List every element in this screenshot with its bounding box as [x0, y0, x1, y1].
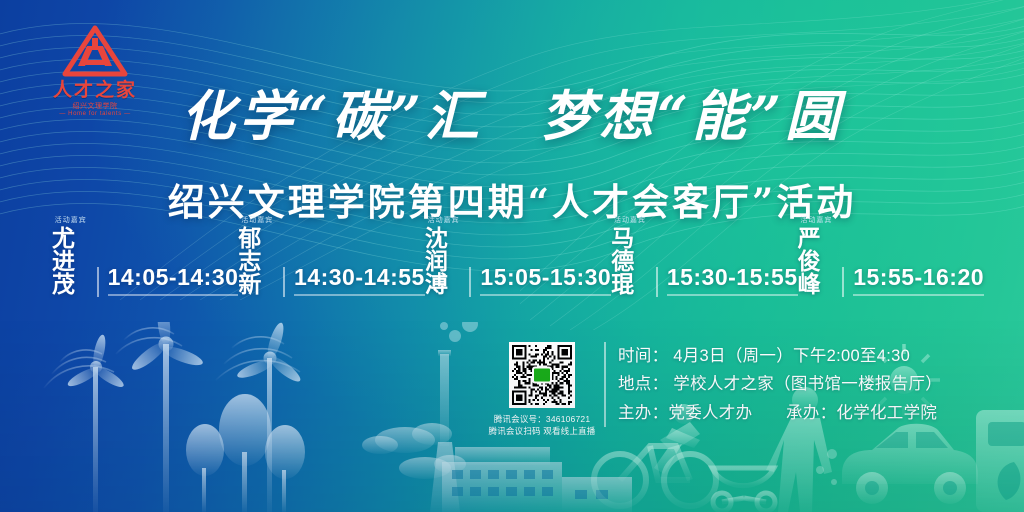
speaker-tag: 活动嘉宾	[238, 217, 276, 224]
wind-swirl-decoration	[44, 328, 300, 388]
event-info-block: 时间： 4月3日（周一）下午2:00至4:30 地点： 学校人才之家（图书馆一楼…	[604, 342, 978, 427]
speaker-tag: 活动嘉宾	[52, 217, 90, 224]
event-place: 地点： 学校人才之家（图书馆一楼报告厅）	[618, 370, 978, 398]
speaker-name: 沈润溥	[425, 227, 463, 296]
cloud-icon	[362, 423, 466, 479]
speaker-divider	[469, 267, 471, 297]
qr-block: 腾讯会议号：346106721 腾讯会议扫码 观看线上直播	[486, 342, 598, 438]
qr-code[interactable]	[509, 342, 575, 408]
wind-turbine-icon	[235, 322, 303, 512]
event-time: 时间： 4月3日（周一）下午2:00至4:30	[618, 342, 978, 370]
speaker-time: 15:05-15:30	[480, 266, 611, 296]
wind-turbine-icon	[66, 334, 126, 512]
cyclist-icon	[594, 446, 716, 506]
speaker-divider	[283, 267, 285, 297]
speaker-time: 15:55-16:20	[853, 266, 984, 296]
wechat-logo-icon	[532, 367, 552, 384]
qr-hint-text: 腾讯会议扫码 观看线上直播	[486, 425, 598, 437]
speaker-time: 15:30-15:55	[667, 266, 798, 296]
exhaust-bubble-icon	[816, 449, 837, 485]
poster-title: 化学“碳”汇 梦想“能”圆	[0, 88, 1024, 145]
wind-turbine-icon	[129, 322, 205, 512]
speaker-name: 尤进茂	[52, 227, 90, 296]
speaker-name: 郁志新	[238, 227, 276, 296]
speaker-name: 马德琨	[611, 227, 649, 296]
car-icon	[842, 424, 978, 504]
speaker-tag: 活动嘉宾	[611, 217, 649, 224]
speaker-time: 14:05-14:30	[108, 266, 239, 296]
speaker-item: 活动嘉宾 尤进茂 14:05-14:30	[52, 217, 238, 302]
speaker-tag: 活动嘉宾	[798, 217, 836, 224]
speaker-divider	[842, 267, 844, 297]
speaker-divider	[97, 267, 99, 297]
ev-charging-station-icon	[976, 410, 1024, 512]
speaker-item: 活动嘉宾 严俊峰 15:55-16:20	[798, 217, 984, 302]
speaker-name: 严俊峰	[798, 227, 836, 296]
speaker-schedule-row: 活动嘉宾 尤进茂 14:05-14:30 活动嘉宾 郁志新 14:30-14:5…	[52, 250, 984, 302]
speaker-time: 14:30-14:55	[294, 266, 425, 296]
meeting-id-text: 腾讯会议号：346106721	[486, 413, 598, 425]
event-organizers: 主办：党委人才办 承办：化学化工学院	[618, 399, 978, 427]
talent-home-triangle-logo-icon	[57, 22, 133, 80]
speaker-divider	[656, 267, 658, 297]
speaker-item: 活动嘉宾 郁志新 14:30-14:55	[238, 217, 424, 302]
speaker-item: 活动嘉宾 马德琨 15:30-15:55	[611, 217, 797, 302]
stroller-icon	[700, 468, 775, 511]
speaker-tag: 活动嘉宾	[425, 217, 463, 224]
smoke-bubble-icon	[440, 322, 478, 342]
tree-icon	[186, 394, 305, 512]
speaker-item: 活动嘉宾 沈润溥 15:05-15:30	[425, 217, 611, 302]
poster-canvas: 人才之家 绍兴文理学院 — Home for talents — 化学“碳”汇 …	[0, 0, 1024, 512]
